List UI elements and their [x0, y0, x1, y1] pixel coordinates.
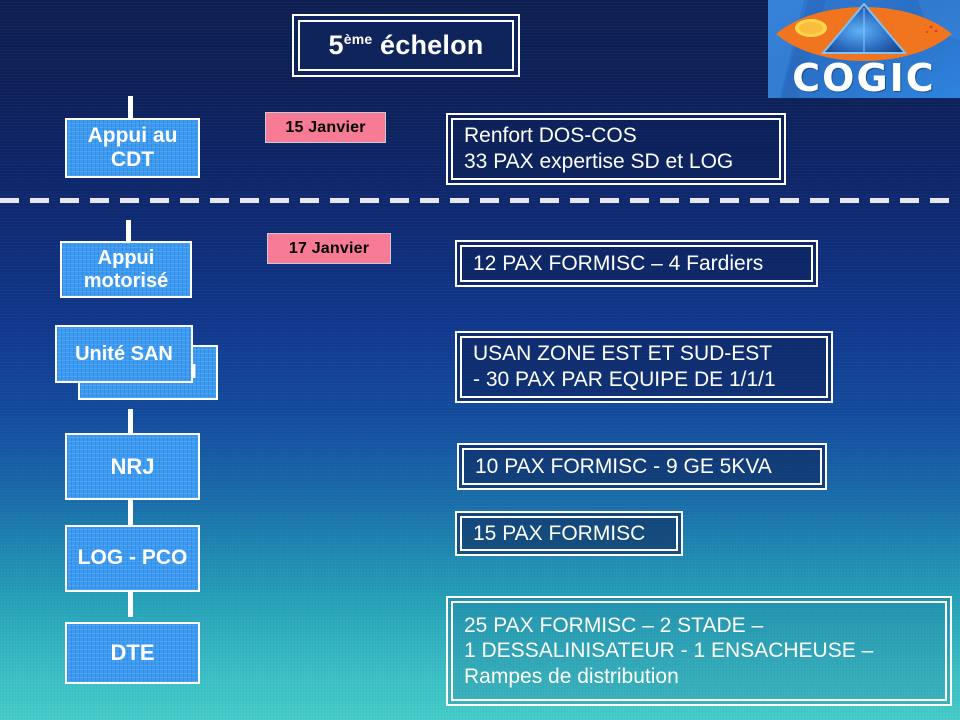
cogic-logo: COGIC	[768, 0, 960, 98]
info-box-15pax-text: 15 PAX FORMISC	[457, 521, 645, 547]
connector-logpco-dte	[128, 592, 133, 617]
connector-appui-motorise	[126, 220, 131, 242]
date-label-17-janvier: 17 Janvier	[267, 233, 391, 264]
node-appui-motorise-label: Appui motorisé	[84, 247, 168, 293]
node-dte-label: DTE	[111, 640, 155, 665]
node-nrj[interactable]: NRJ	[65, 433, 200, 500]
node-appui-motorise[interactable]: Appui motorisé	[60, 241, 192, 298]
node-nrj-label: NRJ	[110, 454, 154, 479]
title-rest: échelon	[372, 30, 483, 60]
node-dte[interactable]: DTE	[65, 622, 200, 684]
info-box-renfort: Renfort DOS-COS 33 PAX expertise SD et L…	[446, 113, 786, 185]
node-log-pco-label: LOG - PCO	[78, 546, 188, 570]
info-box-stade: 25 PAX FORMISC – 2 STADE – 1 DESSALINISA…	[446, 596, 952, 706]
connector-top-appui-cdt	[128, 96, 133, 118]
info-box-stade-text: 25 PAX FORMISC – 2 STADE – 1 DESSALINISA…	[448, 613, 873, 690]
date-label-15-janvier-text: 15 Janvier	[285, 119, 365, 137]
slide-title-box: 5ème échelon	[292, 14, 520, 77]
info-box-usan-text: USAN ZONE EST ET SUD-EST - 30 PAX PAR EQ…	[457, 341, 776, 392]
cogic-logo-text: COGIC	[768, 56, 960, 98]
node-appui-au-cdt-label: Appui au CDT	[88, 124, 178, 172]
info-box-ge-text: 10 PAX FORMISC - 9 GE 5KVA	[459, 454, 772, 480]
page-title: 5ème échelon	[329, 30, 484, 61]
info-box-fardiers: 12 PAX FORMISC – 4 Fardiers	[455, 240, 818, 287]
node-unite-san[interactable]: Unité SAN	[55, 325, 193, 383]
slide-canvas: 5ème échelon	[0, 0, 960, 720]
node-log-pco[interactable]: LOG - PCO	[65, 525, 200, 592]
info-box-renfort-text: Renfort DOS-COS 33 PAX expertise SD et L…	[448, 123, 733, 174]
date-label-15-janvier: 15 Janvier	[265, 112, 386, 143]
node-appui-au-cdt[interactable]: Appui au CDT	[65, 118, 200, 178]
info-box-15pax: 15 PAX FORMISC	[455, 511, 683, 556]
title-superscript: ème	[344, 31, 373, 47]
section-divider	[0, 198, 960, 203]
info-box-fardiers-text: 12 PAX FORMISC – 4 Fardiers	[457, 251, 763, 277]
connector-nrj-logpco	[128, 500, 133, 525]
node-unite-san-label: Unité SAN	[75, 343, 173, 366]
info-box-usan: USAN ZONE EST ET SUD-EST - 30 PAX PAR EQ…	[455, 331, 833, 403]
info-box-ge: 10 PAX FORMISC - 9 GE 5KVA	[457, 443, 827, 490]
date-label-17-janvier-text: 17 Janvier	[289, 240, 369, 258]
slide-title-inner-border: 5ème échelon	[298, 20, 514, 71]
connector-unite-san-nrj	[128, 409, 133, 433]
title-prefix: 5	[329, 30, 344, 60]
